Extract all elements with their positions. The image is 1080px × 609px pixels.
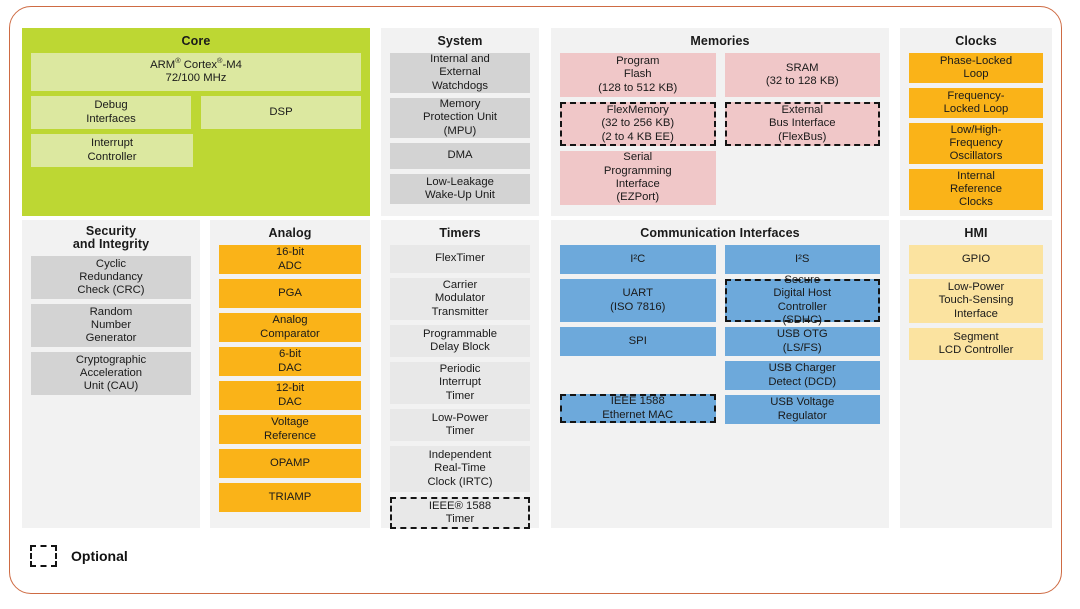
block-internal-reference-clocks[interactable]: Internal Reference Clocks bbox=[909, 169, 1043, 210]
block-usb-otg[interactable]: USB OTG (LS/FS) bbox=[725, 327, 881, 356]
block-spi[interactable]: SPI bbox=[560, 327, 716, 356]
panel-core: Core ARM® Cortex®-M4 72/100 MHz Debug In… bbox=[22, 28, 370, 216]
block-frequency-locked-loop[interactable]: Frequency- Locked Loop bbox=[909, 88, 1043, 118]
block-16bit-adc[interactable]: 16-bit ADC bbox=[219, 245, 361, 274]
block-touch-sensing-interface[interactable]: Low-Power Touch-Sensing Interface bbox=[909, 279, 1043, 323]
comms-left-spacer bbox=[560, 361, 716, 394]
panel-analog-title: Analog bbox=[210, 220, 370, 245]
comms-left-column: I²C UART (ISO 7816) SPI IEEE 1588 Ethern… bbox=[560, 245, 716, 424]
block-sdhc[interactable]: Secure Digital Host Controller (SDHC) bbox=[725, 279, 881, 322]
legend: Optional bbox=[30, 545, 128, 567]
block-dsp[interactable]: DSP bbox=[201, 96, 361, 129]
panel-memories-title: Memories bbox=[551, 28, 889, 53]
block-i2c[interactable]: I²C bbox=[560, 245, 716, 274]
panel-hmi-blocks: GPIO Low-Power Touch-Sensing Interface S… bbox=[900, 245, 1052, 368]
panel-hmi: HMI GPIO Low-Power Touch-Sensing Interfa… bbox=[900, 220, 1052, 528]
block-carrier-modulator-transmitter[interactable]: Carrier Modulator Transmitter bbox=[390, 278, 530, 320]
block-cau[interactable]: Cryptographic Acceleration Unit (CAU) bbox=[31, 352, 191, 395]
block-i2s[interactable]: I²S bbox=[725, 245, 881, 274]
comms-right-column: I²S Secure Digital Host Controller (SDHC… bbox=[725, 245, 881, 424]
legend-optional-swatch-icon bbox=[30, 545, 57, 567]
block-oscillators[interactable]: Low/High- Frequency Oscillators bbox=[909, 123, 1043, 164]
block-triamp[interactable]: TRIAMP bbox=[219, 483, 361, 512]
block-programmable-delay-block[interactable]: Programmable Delay Block bbox=[390, 325, 530, 357]
block-usb-voltage-regulator[interactable]: USB Voltage Regulator bbox=[725, 395, 881, 424]
panel-system-title: System bbox=[381, 28, 539, 53]
panel-clocks-blocks: Phase-Locked Loop Frequency- Locked Loop… bbox=[900, 53, 1052, 218]
panel-clocks-title: Clocks bbox=[900, 28, 1052, 53]
panel-hmi-title: HMI bbox=[900, 220, 1052, 245]
block-dma[interactable]: DMA bbox=[390, 143, 530, 169]
block-flexmemory[interactable]: FlexMemory (32 to 256 KB) (2 to 4 KB EE) bbox=[560, 102, 716, 146]
panel-comms-title: Communication Interfaces bbox=[551, 220, 889, 245]
core-spacer bbox=[203, 134, 361, 172]
block-low-power-timer[interactable]: Low-Power Timer bbox=[390, 409, 530, 441]
block-analog-comparator[interactable]: Analog Comparator bbox=[219, 313, 361, 342]
block-uart[interactable]: UART (ISO 7816) bbox=[560, 279, 716, 322]
block-usb-charger-detect[interactable]: USB Charger Detect (DCD) bbox=[725, 361, 881, 390]
block-mpu[interactable]: Memory Protection Unit (MPU) bbox=[390, 98, 530, 138]
block-irtc[interactable]: Independent Real-Time Clock (IRTC) bbox=[390, 446, 530, 492]
block-opamp[interactable]: OPAMP bbox=[219, 449, 361, 478]
panel-security-title: Security and Integrity bbox=[22, 220, 200, 256]
block-ieee-1588-ethernet-mac[interactable]: IEEE 1588 Ethernet MAC bbox=[560, 394, 716, 423]
block-segment-lcd-controller[interactable]: Segment LCD Controller bbox=[909, 328, 1043, 360]
panel-system-blocks: Internal and External Watchdogs Memory P… bbox=[381, 53, 539, 212]
panel-analog: Analog 16-bit ADC PGA Analog Comparator … bbox=[210, 220, 370, 528]
block-program-flash[interactable]: Program Flash (128 to 512 KB) bbox=[560, 53, 716, 97]
panel-security-and-integrity: Security and Integrity Cyclic Redundancy… bbox=[22, 220, 200, 528]
memories-right-column: SRAM (32 to 128 KB) External Bus Interfa… bbox=[725, 53, 881, 205]
block-interrupt-controller[interactable]: Interrupt Controller bbox=[31, 134, 193, 167]
block-low-leakage-wakeup-unit[interactable]: Low-Leakage Wake-Up Unit bbox=[390, 174, 530, 204]
panel-security-blocks: Cyclic Redundancy Check (CRC) Random Num… bbox=[22, 256, 200, 403]
block-12bit-dac[interactable]: 12-bit DAC bbox=[219, 381, 361, 410]
panel-analog-blocks: 16-bit ADC PGA Analog Comparator 6-bit D… bbox=[210, 245, 370, 520]
block-periodic-interrupt-timer[interactable]: Periodic Interrupt Timer bbox=[390, 362, 530, 404]
panel-core-title: Core bbox=[22, 28, 370, 53]
memories-left-column: Program Flash (128 to 512 KB) FlexMemory… bbox=[560, 53, 716, 205]
panel-timers: Timers FlexTimer Carrier Modulator Trans… bbox=[381, 220, 539, 528]
block-crc[interactable]: Cyclic Redundancy Check (CRC) bbox=[31, 256, 191, 299]
block-serial-programming-interface[interactable]: Serial Programming Interface (EZPort) bbox=[560, 151, 716, 205]
block-external-bus-interface[interactable]: External Bus Interface (FlexBus) bbox=[725, 102, 881, 146]
panel-timers-blocks: FlexTimer Carrier Modulator Transmitter … bbox=[381, 245, 539, 537]
block-ieee-1588-timer[interactable]: IEEE® 1588 Timer bbox=[390, 497, 530, 529]
panel-system: System Internal and External Watchdogs M… bbox=[381, 28, 539, 216]
block-flextimer[interactable]: FlexTimer bbox=[390, 245, 530, 273]
block-phase-locked-loop[interactable]: Phase-Locked Loop bbox=[909, 53, 1043, 83]
block-arm-cortex-m4[interactable]: ARM® Cortex®-M4 72/100 MHz bbox=[31, 53, 361, 91]
legend-optional-label: Optional bbox=[71, 548, 128, 564]
block-pga[interactable]: PGA bbox=[219, 279, 361, 308]
block-watchdogs[interactable]: Internal and External Watchdogs bbox=[390, 53, 530, 93]
block-arm-cortex-m4-label: ARM® Cortex®-M4 72/100 MHz bbox=[150, 59, 242, 86]
panel-communication-interfaces: Communication Interfaces I²C UART (ISO 7… bbox=[551, 220, 889, 528]
panel-memories: Memories Program Flash (128 to 512 KB) F… bbox=[551, 28, 889, 216]
panel-clocks: Clocks Phase-Locked Loop Frequency- Lock… bbox=[900, 28, 1052, 216]
panel-comms-blocks: I²C UART (ISO 7816) SPI IEEE 1588 Ethern… bbox=[551, 245, 889, 432]
block-random-number-generator[interactable]: Random Number Generator bbox=[31, 304, 191, 347]
block-diagram-canvas: Core ARM® Cortex®-M4 72/100 MHz Debug In… bbox=[0, 0, 1080, 609]
block-gpio[interactable]: GPIO bbox=[909, 245, 1043, 274]
panel-memories-blocks: Program Flash (128 to 512 KB) FlexMemory… bbox=[551, 53, 889, 213]
panel-timers-title: Timers bbox=[381, 220, 539, 245]
block-sram[interactable]: SRAM (32 to 128 KB) bbox=[725, 53, 881, 97]
block-debug-interfaces[interactable]: Debug Interfaces bbox=[31, 96, 191, 129]
block-6bit-dac[interactable]: 6-bit DAC bbox=[219, 347, 361, 376]
panel-grid: Core ARM® Cortex®-M4 72/100 MHz Debug In… bbox=[22, 28, 1052, 528]
block-voltage-reference[interactable]: Voltage Reference bbox=[219, 415, 361, 444]
